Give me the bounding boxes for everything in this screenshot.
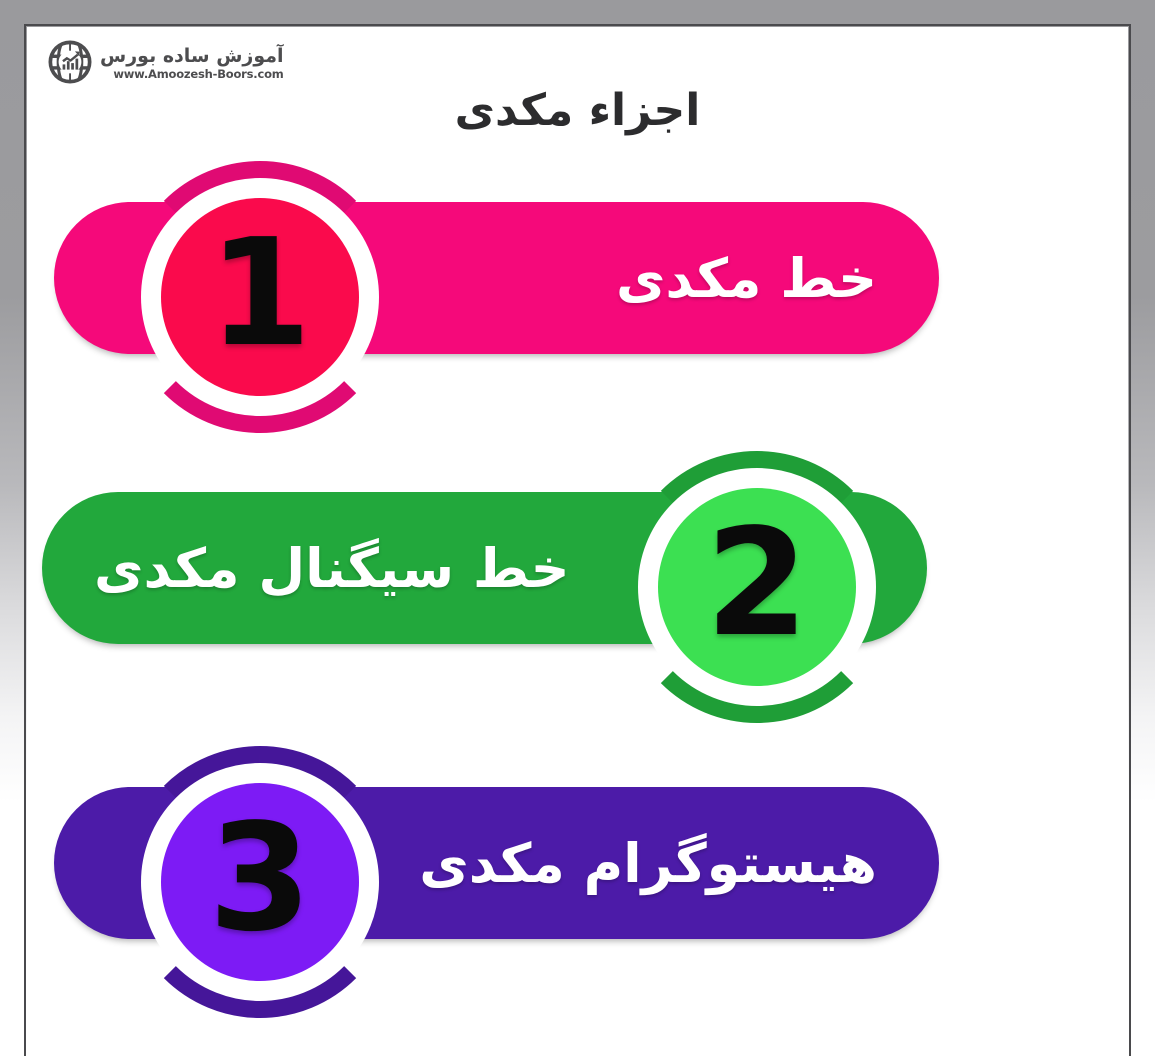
globe-chart-icon — [47, 39, 93, 89]
list-item-1[interactable]: خط مکدی 1 — [27, 152, 1128, 442]
item-3-number-badge[interactable]: 3 — [115, 737, 405, 1027]
item-3-number: 3 — [115, 737, 405, 1027]
brand-name: آموزش ساده بورس — [100, 47, 284, 66]
list-item-3[interactable]: هیستوگرام مکدی 3 — [27, 737, 1128, 1027]
item-3-label: هیستوگرام مکدی — [419, 832, 877, 895]
item-2-number: 2 — [612, 442, 902, 732]
item-1-number-badge[interactable]: 1 — [115, 152, 405, 442]
brand-website: www.Amoozesh-Boors.com — [113, 69, 283, 81]
item-1-label: خط مکدی — [616, 247, 877, 310]
brand-logo[interactable]: آموزش ساده بورس www.Amoozesh-Boors.com — [47, 39, 284, 89]
item-2-number-badge[interactable]: 2 — [612, 442, 902, 732]
poster-canvas: آموزش ساده بورس www.Amoozesh-Boors.com ا… — [27, 27, 1128, 1056]
item-2-label: خط سیگنال مکدی — [94, 537, 570, 600]
infographic-poster: آموزش ساده بورس www.Amoozesh-Boors.com ا… — [0, 0, 1155, 1056]
list-item-2[interactable]: خط سیگنال مکدی 2 — [27, 442, 1128, 732]
item-1-number: 1 — [115, 152, 405, 442]
brand-text-block: آموزش ساده بورس www.Amoozesh-Boors.com — [100, 47, 284, 81]
page-title: اجزاء مکدی — [27, 85, 1128, 136]
